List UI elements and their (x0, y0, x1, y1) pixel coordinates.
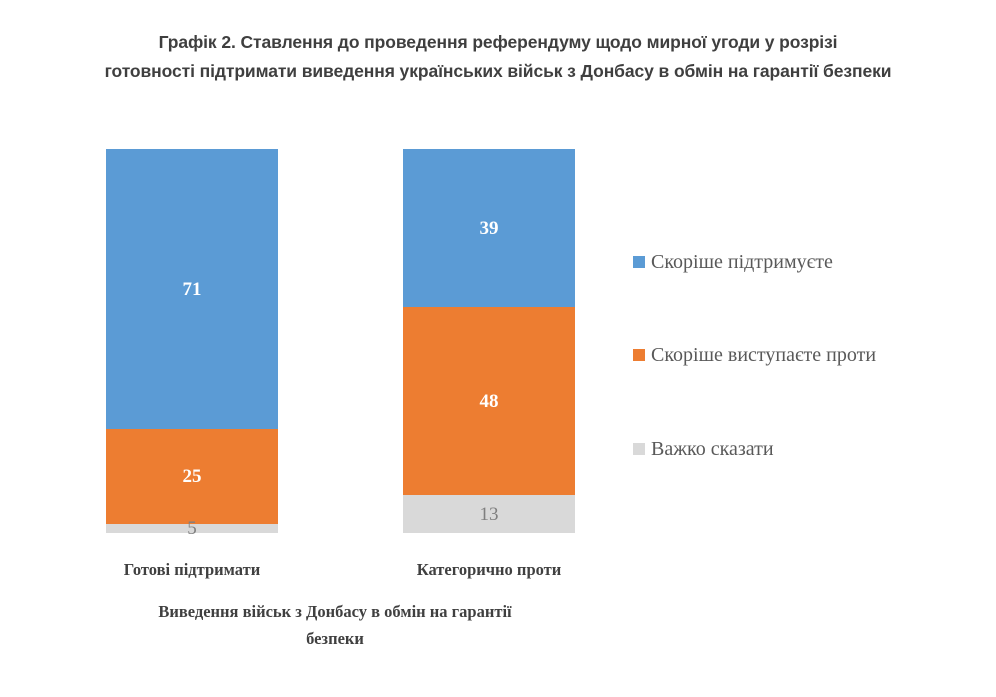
legend-item-label: Скоріше виступаєте проти (651, 344, 876, 366)
chart-legend: Скоріше підтримуєте Скоріше виступаєте п… (633, 249, 963, 469)
legend-item-label: Важко сказати (651, 438, 774, 460)
legend-item-support[interactable]: Скоріше підтримуєте (633, 249, 833, 275)
bar-value-label: 5 (187, 519, 197, 538)
legend-swatch-icon (633, 349, 645, 361)
x-axis-title: Виведення військ з Донбасу в обмін на га… (40, 598, 630, 652)
x-axis-tick-labels: Готові підтримати Категорично проти (0, 560, 620, 586)
x-tick-label-gotovi-pidtrymaty: Готові підтримати (77, 560, 307, 580)
bar-segment-against[interactable]: 25 (106, 429, 278, 524)
bar-segment-support[interactable]: 71 (106, 149, 278, 429)
bar-value-label: 39 (480, 219, 499, 238)
legend-swatch-icon (633, 443, 645, 455)
bar-group-gotovi-pidtrymaty: 71 25 5 (106, 149, 278, 533)
bar-value-label: 25 (183, 467, 202, 486)
bar-value-label: 71 (183, 280, 202, 299)
chart-title-line-2: готовності підтримати виведення українсь… (40, 57, 956, 86)
chart-container: Графік 2. Ставлення до проведення рефере… (0, 0, 996, 697)
bar-segment-against[interactable]: 48 (403, 307, 575, 495)
bar-value-label: 48 (480, 392, 499, 411)
legend-item-label: Скоріше підтримуєте (651, 251, 833, 273)
x-axis-title-line-2: безпеки (40, 625, 630, 652)
legend-swatch-icon (633, 256, 645, 268)
plot-area: 71 25 5 39 48 13 (0, 149, 620, 533)
bar-group-katehorychno-proty: 39 48 13 (403, 149, 575, 533)
chart-title-line-1: Графік 2. Ставлення до проведення рефере… (40, 28, 956, 57)
legend-item-hard-to-say[interactable]: Важко сказати (633, 436, 774, 462)
chart-title: Графік 2. Ставлення до проведення рефере… (40, 28, 956, 86)
bar-segment-hard-to-say[interactable]: 5 (106, 524, 278, 533)
legend-item-against[interactable]: Скоріше виступаєте проти (633, 342, 876, 368)
bar-segment-support[interactable]: 39 (403, 149, 575, 307)
bar-segment-hard-to-say[interactable]: 13 (403, 495, 575, 533)
bar-value-label: 13 (480, 505, 499, 524)
x-tick-label-katehorychno-proty: Категорично проти (374, 560, 604, 580)
x-axis-title-line-1: Виведення військ з Донбасу в обмін на га… (40, 598, 630, 625)
